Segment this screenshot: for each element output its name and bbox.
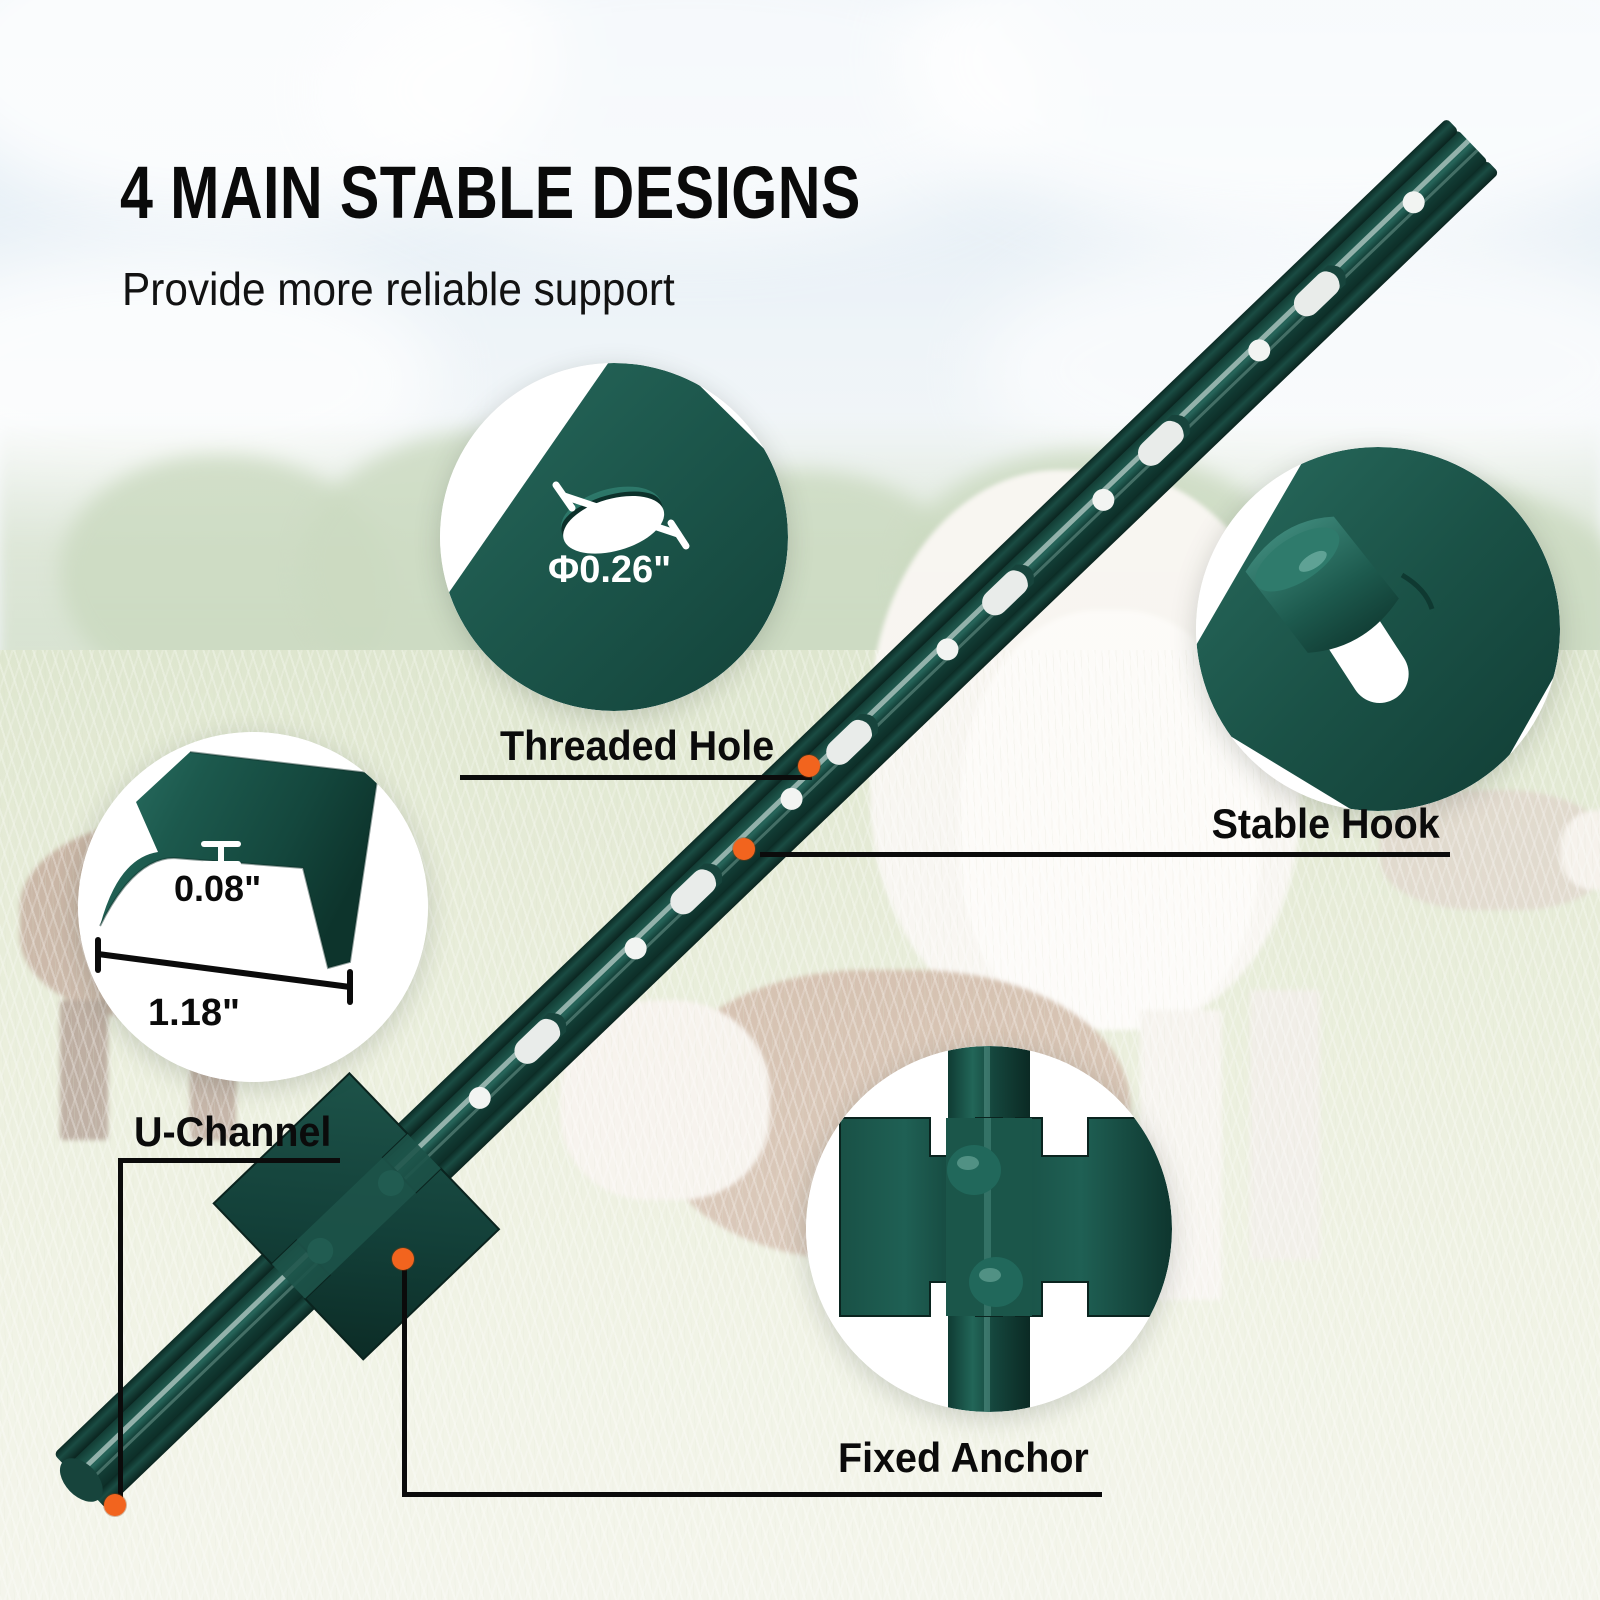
threaded-hole-dimension: Φ0.26" [548,549,671,592]
u-channel-thickness-value: 0.08" [174,868,261,910]
callout-bubble-stable-hook[interactable] [1196,447,1560,811]
threaded-hole-illustration [440,363,788,711]
leader-line-fixed-anchor-horizontal [402,1492,1102,1497]
callout-bubble-threaded-hole[interactable]: Φ0.26" [440,363,788,711]
label-u-channel: U-Channel [134,1108,331,1156]
page-subtitle: Provide more reliable support [122,262,675,316]
leader-line-fixed-anchor-vertical [402,1262,407,1496]
page-title: 4 MAIN STABLE DESIGNS [120,150,861,235]
callout-bubble-u-channel[interactable]: 0.08" 1.18" [78,732,428,1082]
label-stable-hook: Stable Hook [1212,800,1440,848]
anchor-rivet [947,1145,1001,1195]
anchor-rivet [969,1257,1023,1307]
marker-dot-u-channel [104,1494,126,1516]
infographic-canvas: 4 MAIN STABLE DESIGNS Provide more relia… [0,0,1600,1600]
leader-line-threaded-hole [460,775,812,780]
marker-dot-fixed-anchor [392,1248,414,1270]
anchor-plate-right [1016,1118,1172,1316]
u-channel-width-value: 1.18" [148,992,240,1035]
label-threaded-hole: Threaded Hole [500,722,774,770]
marker-dot-stable-hook [733,838,755,860]
marker-dot-threaded-hole [798,755,820,777]
callout-bubble-fixed-anchor[interactable] [806,1046,1172,1412]
leader-line-u-channel-vertical [118,1158,123,1506]
leader-line-stable-hook [760,852,1450,857]
label-fixed-anchor: Fixed Anchor [838,1434,1089,1482]
stable-hook-illustration [1196,447,1560,811]
leader-line-u-channel-horizontal [118,1158,340,1163]
fixed-anchor-illustration [806,1046,1172,1412]
